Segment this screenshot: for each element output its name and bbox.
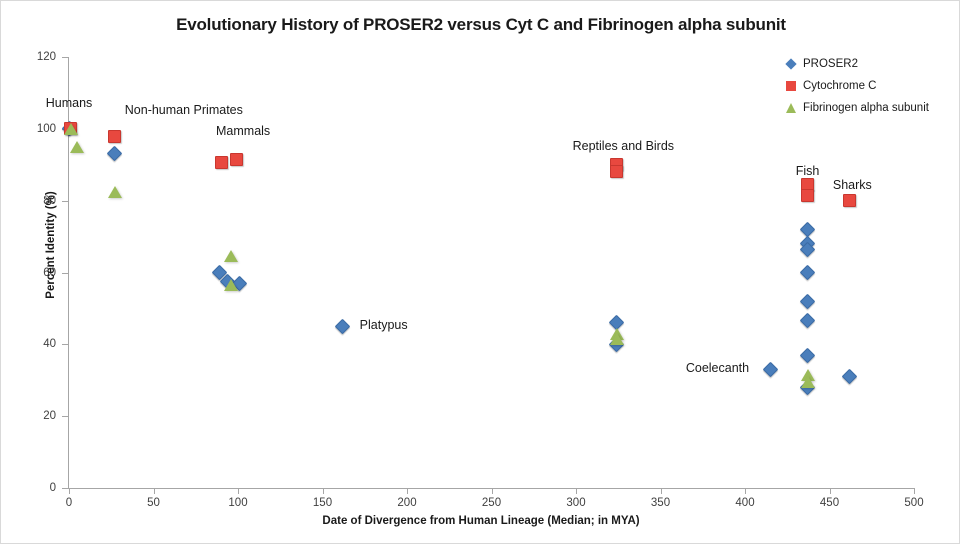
legend-item[interactable]: Fibrinogen alpha subunit bbox=[785, 97, 957, 119]
data-point bbox=[763, 362, 779, 378]
x-axis-tick-mark bbox=[407, 488, 408, 494]
x-axis-tick-mark bbox=[69, 488, 70, 494]
y-axis-title: Percent Identity (%) bbox=[45, 155, 57, 335]
y-axis-tick-mark bbox=[62, 416, 68, 417]
series-annotation-label: Platypus bbox=[360, 318, 408, 332]
data-point bbox=[801, 189, 814, 202]
x-axis-tick-label: 0 bbox=[49, 497, 89, 509]
x-axis-tick-label: 300 bbox=[556, 497, 596, 509]
data-point bbox=[610, 165, 623, 178]
x-axis-tick-mark bbox=[238, 488, 239, 494]
x-axis-tick-mark bbox=[576, 488, 577, 494]
x-axis-tick-mark bbox=[323, 488, 324, 494]
data-point bbox=[108, 130, 121, 143]
data-point bbox=[800, 313, 816, 329]
chart-legend: PROSER2Cytochrome CFibrinogen alpha subu… bbox=[785, 53, 957, 119]
x-axis-tick-mark bbox=[492, 488, 493, 494]
y-axis-tick-mark bbox=[62, 488, 68, 489]
data-point bbox=[800, 293, 816, 309]
y-axis-tick-label: 40 bbox=[1, 338, 56, 350]
x-axis-tick-mark bbox=[154, 488, 155, 494]
y-axis-tick-label: 0 bbox=[1, 482, 56, 494]
series-annotation-label: Fish bbox=[796, 164, 820, 178]
x-axis-tick-label: 50 bbox=[134, 497, 174, 509]
legend-item-label: PROSER2 bbox=[803, 58, 858, 70]
y-axis-tick-label: 120 bbox=[1, 51, 56, 63]
series-annotation-label: Mammals bbox=[216, 124, 270, 138]
diamond-marker-icon bbox=[785, 57, 799, 71]
scatter-chart: Evolutionary History of PROSER2 versus C… bbox=[0, 0, 960, 544]
data-point bbox=[64, 123, 78, 135]
legend-item[interactable]: Cytochrome C bbox=[785, 75, 957, 97]
x-axis-tick-mark bbox=[914, 488, 915, 494]
x-axis-tick-label: 450 bbox=[810, 497, 850, 509]
x-axis-tick-label: 400 bbox=[725, 497, 765, 509]
data-point bbox=[800, 347, 816, 363]
legend-item-label: Fibrinogen alpha subunit bbox=[803, 102, 929, 114]
data-point bbox=[224, 250, 238, 262]
y-axis-tick-mark bbox=[62, 57, 68, 58]
data-point bbox=[108, 186, 122, 198]
legend-item-label: Cytochrome C bbox=[803, 80, 877, 92]
series-annotation-label: Non-human Primates bbox=[125, 103, 243, 117]
y-axis-tick-mark bbox=[62, 344, 68, 345]
x-axis-title: Date of Divergence from Human Lineage (M… bbox=[1, 515, 960, 527]
series-annotation-label: Humans bbox=[46, 96, 93, 110]
series-annotation-label: Reptiles and Birds bbox=[573, 139, 674, 153]
x-axis-tick-label: 250 bbox=[472, 497, 512, 509]
data-point bbox=[224, 279, 238, 291]
data-point bbox=[335, 319, 351, 335]
legend-item[interactable]: PROSER2 bbox=[785, 53, 957, 75]
data-point bbox=[107, 146, 123, 162]
data-point bbox=[230, 153, 243, 166]
square-marker-icon bbox=[785, 79, 799, 93]
series-annotation-label: Coelecanth bbox=[686, 361, 749, 375]
data-point bbox=[842, 369, 858, 385]
chart-title: Evolutionary History of PROSER2 versus C… bbox=[1, 15, 960, 35]
x-axis-tick-label: 150 bbox=[303, 497, 343, 509]
data-point bbox=[800, 265, 816, 281]
x-axis-tick-label: 200 bbox=[387, 497, 427, 509]
y-axis-tick-mark bbox=[62, 201, 68, 202]
triangle-marker-icon bbox=[785, 101, 799, 115]
data-point bbox=[610, 333, 624, 345]
data-point bbox=[70, 141, 84, 153]
plot-area: HumansNon-human PrimatesMammalsPlatypusR… bbox=[69, 57, 914, 488]
x-axis-tick-mark bbox=[745, 488, 746, 494]
y-axis-tick-mark bbox=[62, 273, 68, 274]
data-point bbox=[843, 194, 856, 207]
y-axis-tick-label: 20 bbox=[1, 410, 56, 422]
x-axis-tick-label: 500 bbox=[894, 497, 934, 509]
series-annotation-label: Sharks bbox=[833, 178, 872, 192]
x-axis-tick-label: 350 bbox=[641, 497, 681, 509]
x-axis-tick-mark bbox=[830, 488, 831, 494]
y-axis-tick-label: 100 bbox=[1, 123, 56, 135]
data-point bbox=[801, 376, 815, 388]
x-axis-tick-label: 100 bbox=[218, 497, 258, 509]
x-axis-tick-mark bbox=[661, 488, 662, 494]
data-point bbox=[215, 156, 228, 169]
